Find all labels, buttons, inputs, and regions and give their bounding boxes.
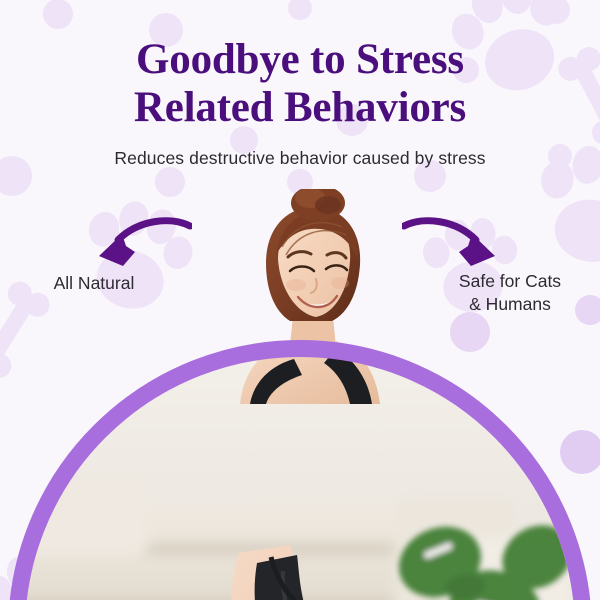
- arrow-left-wrap: [82, 212, 192, 279]
- page-title: Goodbye to Stress Related Behaviors: [0, 36, 600, 132]
- subtitle: Reduces destructive behavior caused by s…: [0, 148, 600, 169]
- arrow-right-wrap: [402, 212, 512, 279]
- headline-line-1: Goodbye to Stress: [136, 36, 464, 83]
- banner-root: Goodbye to Stress Related Behaviors Redu…: [0, 0, 600, 600]
- headline-line-2: Related Behaviors: [0, 84, 600, 132]
- curved-arrow-down-right-icon: [402, 212, 512, 274]
- benefit-label-safe-for-cats-and-humans: Safe for Cats & Humans: [426, 270, 594, 316]
- benefit-label-all-natural: All Natural: [14, 272, 174, 295]
- curved-arrow-down-left-icon: [82, 212, 192, 274]
- headline-block: Goodbye to Stress Related Behaviors Redu…: [0, 36, 600, 169]
